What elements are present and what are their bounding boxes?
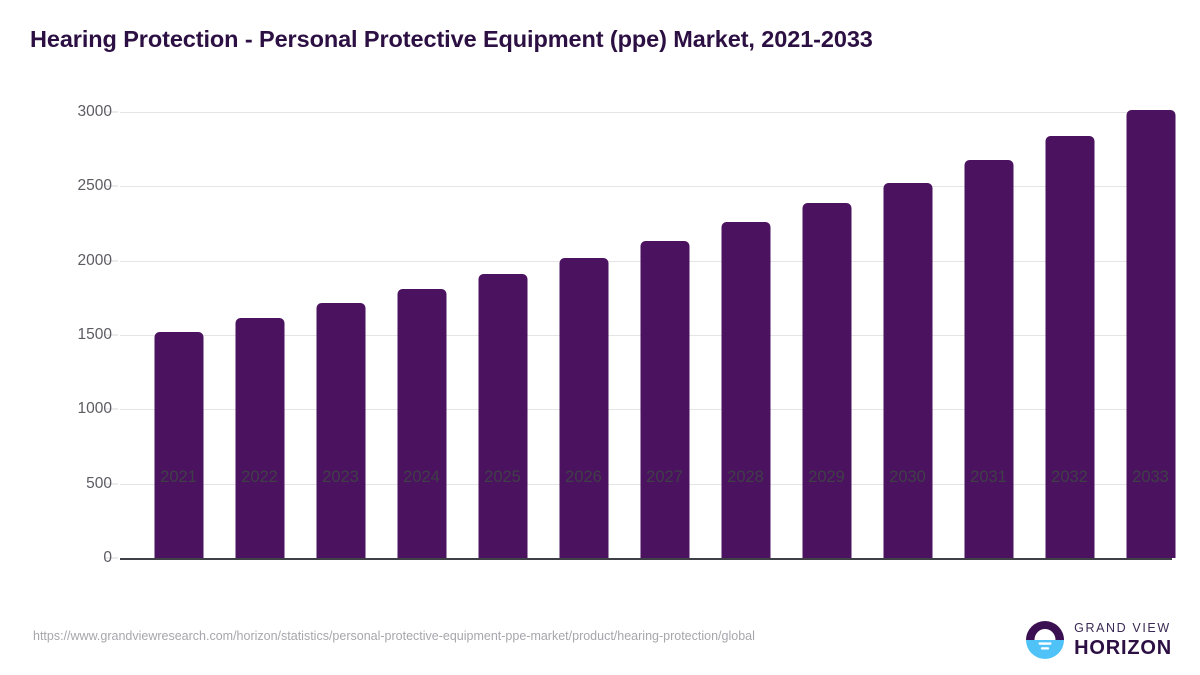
logo-top-text: GRAND VIEW <box>1074 622 1172 635</box>
bar-2028[interactable] <box>721 222 770 558</box>
bar-slot-2032[interactable] <box>1029 112 1110 558</box>
bar-slot-2029[interactable] <box>786 112 867 558</box>
y-tick-label-1500: 1500 <box>22 326 112 344</box>
bar-slot-2027[interactable] <box>624 112 705 558</box>
x-tick-label-2029: 2029 <box>786 468 867 487</box>
x-tick-label-2023: 2023 <box>300 468 381 487</box>
x-tick-label-2025: 2025 <box>462 468 543 487</box>
y-tick-label-500: 500 <box>22 475 112 493</box>
bar-2029[interactable] <box>802 203 851 558</box>
bar-slot-2026[interactable] <box>543 112 624 558</box>
x-tick-label-2030: 2030 <box>867 468 948 487</box>
bar-slot-2028[interactable] <box>705 112 786 558</box>
x-tick-label-2026: 2026 <box>543 468 624 487</box>
bar-2025[interactable] <box>478 274 527 558</box>
bar-2030[interactable] <box>883 183 932 558</box>
bar-2032[interactable] <box>1045 136 1094 558</box>
brand-logo: GRAND VIEW HORIZON <box>1025 620 1172 660</box>
x-tick-label-2024: 2024 <box>381 468 462 487</box>
bar-slot-2021[interactable] <box>138 112 219 558</box>
source-url[interactable]: https://www.grandviewresearch.com/horizo… <box>33 628 938 644</box>
bar-slot-2023[interactable] <box>300 112 381 558</box>
logo-wordmark: GRAND VIEW HORIZON <box>1074 622 1172 658</box>
gridline-0 <box>120 558 1172 560</box>
bar-slot-2033[interactable] <box>1110 112 1191 558</box>
y-tick-label-3000: 3000 <box>22 103 112 121</box>
logo-bottom-text: HORIZON <box>1074 638 1172 658</box>
bar-2033[interactable] <box>1126 110 1175 558</box>
x-tick-label-2022: 2022 <box>219 468 300 487</box>
bar-slot-2024[interactable] <box>381 112 462 558</box>
x-tick-label-2031: 2031 <box>948 468 1029 487</box>
bar-chart: Market Size (US$M) 050010001500200025003… <box>0 0 1200 675</box>
x-tick-label-2028: 2028 <box>705 468 786 487</box>
bar-2027[interactable] <box>640 241 689 558</box>
x-tick-label-2027: 2027 <box>624 468 705 487</box>
horizon-circle-icon <box>1025 620 1065 660</box>
bar-2021[interactable] <box>154 332 203 558</box>
x-tick-label-2033: 2033 <box>1110 468 1191 487</box>
bar-slot-2030[interactable] <box>867 112 948 558</box>
y-tick-label-1000: 1000 <box>22 400 112 418</box>
bar-slot-2022[interactable] <box>219 112 300 558</box>
bar-2022[interactable] <box>235 318 284 558</box>
bar-2031[interactable] <box>964 160 1013 558</box>
bar-2024[interactable] <box>397 289 446 558</box>
bar-2026[interactable] <box>559 258 608 558</box>
chart-card: Hearing Protection - Personal Protective… <box>0 0 1200 675</box>
bar-2023[interactable] <box>316 303 365 558</box>
y-tick-label-2000: 2000 <box>22 252 112 270</box>
y-tick-label-2500: 2500 <box>22 177 112 195</box>
bar-slot-2031[interactable] <box>948 112 1029 558</box>
x-tick-label-2032: 2032 <box>1029 468 1110 487</box>
bar-series <box>120 112 1172 558</box>
y-tick-label-0: 0 <box>22 549 112 567</box>
bar-slot-2025[interactable] <box>462 112 543 558</box>
x-tick-label-2021: 2021 <box>138 468 219 487</box>
